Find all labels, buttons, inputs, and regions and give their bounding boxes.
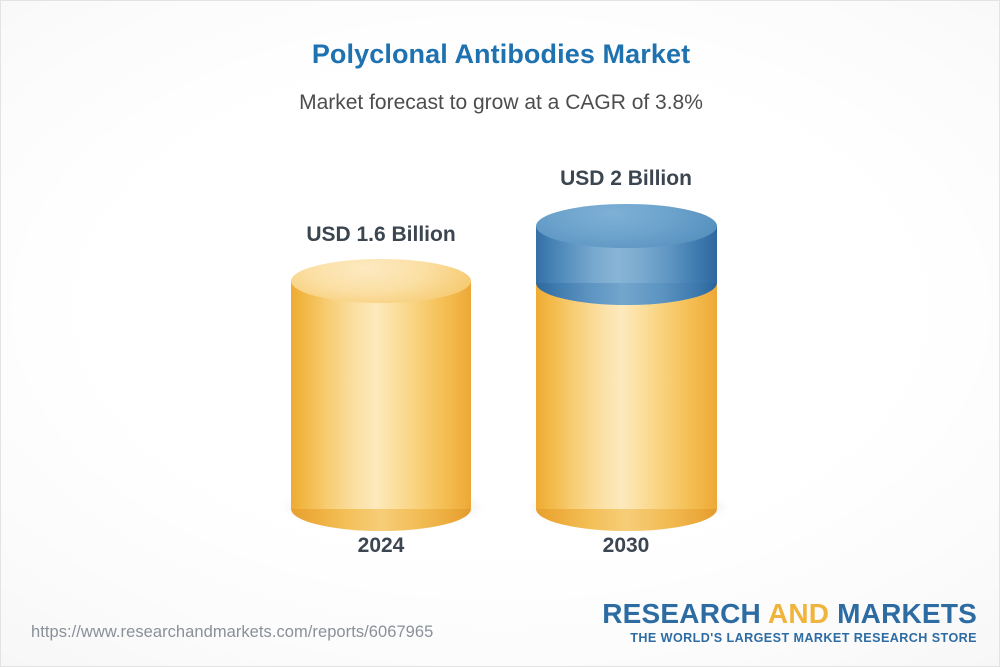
bar-top-cap-2024 [291, 259, 471, 303]
page-subtitle: Market forecast to grow at a CAGR of 3.8… [1, 91, 1000, 115]
brand-word-markets: MARKETS [829, 598, 977, 629]
page-title: Polyclonal Antibodies Market [1, 39, 1000, 70]
year-label-2030: 2030 [466, 534, 786, 558]
bar-top-cap-2030 [536, 204, 717, 248]
brand-logo[interactable]: RESEARCH AND MARKETS THE WORLD'S LARGEST… [602, 599, 977, 645]
brand-word-research: RESEARCH [602, 598, 768, 629]
brand-wordmark: RESEARCH AND MARKETS [602, 599, 977, 628]
bar-body-overlay-2024 [291, 281, 471, 509]
brand-word-and: AND [768, 598, 829, 629]
bar-body-base-overlay-2030 [536, 283, 717, 509]
report-url[interactable]: https://www.researchandmarkets.com/repor… [31, 623, 433, 642]
value-label-2030: USD 2 Billion [466, 167, 786, 191]
brand-tagline: THE WORLD'S LARGEST MARKET RESEARCH STOR… [602, 631, 977, 645]
value-label-2024: USD 1.6 Billion [221, 223, 541, 247]
infographic-canvas: Polyclonal Antibodies Market Market fore… [0, 0, 1000, 667]
